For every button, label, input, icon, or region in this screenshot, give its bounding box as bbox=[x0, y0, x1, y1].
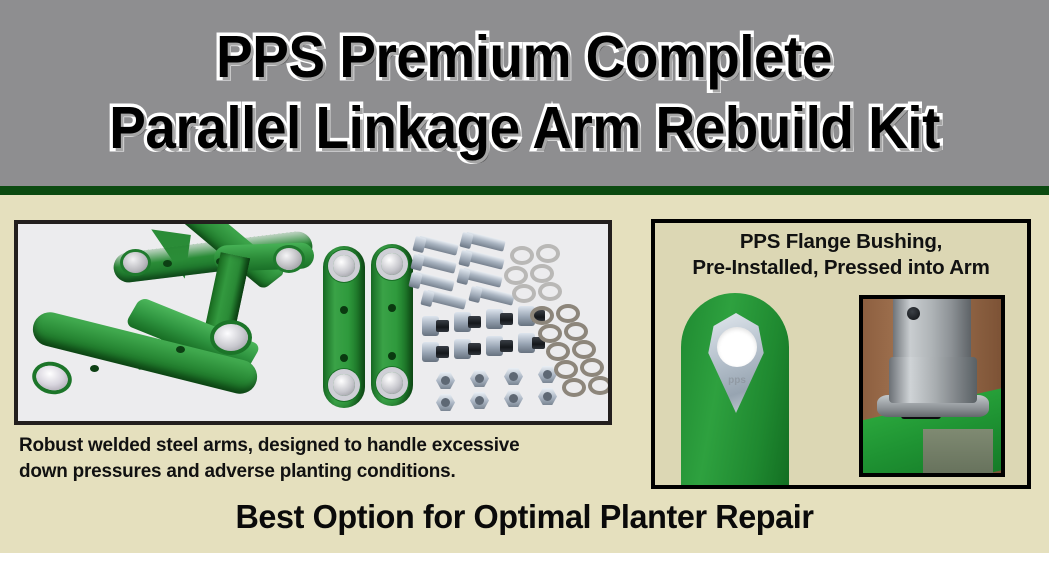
hex-bolt-head bbox=[412, 236, 426, 253]
link-bar-hole bbox=[340, 306, 348, 314]
washer bbox=[572, 340, 596, 359]
washer bbox=[588, 376, 612, 395]
arm-end-with-bushing-image: pps bbox=[673, 291, 797, 489]
washer bbox=[530, 306, 554, 325]
washer bbox=[512, 284, 536, 303]
product-caption: Robust welded steel arms, designed to ha… bbox=[19, 433, 601, 485]
arm-lower-right-eye bbox=[214, 324, 248, 351]
hex-bolt-head bbox=[468, 286, 482, 303]
page-title-line-2: Parallel Linkage Arm Rebuild Kit bbox=[109, 99, 940, 158]
arm-hole bbox=[176, 346, 185, 353]
washer bbox=[538, 324, 562, 343]
arm-upper-right-eye bbox=[276, 248, 302, 270]
arm-hole bbox=[90, 365, 99, 372]
hex-bolt-head bbox=[458, 250, 472, 267]
link-bar-hole bbox=[388, 352, 396, 360]
hex-bolt-head bbox=[459, 232, 473, 249]
arm-upper-left-eye bbox=[123, 252, 148, 273]
hex-bolt-head bbox=[410, 254, 424, 271]
arm-lower-left-eye bbox=[34, 362, 71, 393]
link-bar-eye bbox=[381, 372, 403, 394]
press-photo-shadowed-arm bbox=[923, 429, 993, 477]
washer bbox=[510, 246, 534, 265]
hex-bolt-head bbox=[456, 268, 470, 285]
panel-title-line-1: PPS Flange Bushing, bbox=[655, 229, 1027, 255]
product-caption-line-1: Robust welded steel arms, designed to ha… bbox=[19, 433, 601, 459]
flange-bolt bbox=[422, 342, 448, 362]
link-bar-hole bbox=[388, 304, 396, 312]
ad-banner: PPS Premium Complete Parallel Linkage Ar… bbox=[0, 0, 1049, 585]
page-title-line-1: PPS Premium Complete bbox=[217, 28, 833, 87]
hex-nut bbox=[436, 372, 455, 389]
hex-nut bbox=[504, 390, 523, 407]
flange-bolt bbox=[454, 339, 480, 359]
product-photo-kit bbox=[14, 220, 612, 425]
link-bar-eye bbox=[381, 253, 403, 275]
hex-nut bbox=[470, 392, 489, 409]
flange-bushing-panel: PPS Flange Bushing, Pre-Installed, Press… bbox=[651, 219, 1031, 489]
bushing-stamp-text: pps bbox=[719, 375, 755, 387]
washer bbox=[554, 360, 578, 379]
flange-bolt bbox=[454, 312, 480, 332]
washer bbox=[536, 244, 560, 263]
washer bbox=[530, 264, 554, 283]
tagline: Best Option for Optimal Planter Repair bbox=[10, 498, 1038, 536]
bushing-press-photo bbox=[859, 295, 1005, 477]
flange-bolt bbox=[422, 316, 448, 336]
banner-header: PPS Premium Complete Parallel Linkage Ar… bbox=[0, 0, 1049, 186]
link-bar-hole bbox=[340, 354, 348, 362]
washer bbox=[538, 282, 562, 301]
press-photo-bushing-collar bbox=[889, 357, 977, 403]
washer bbox=[556, 304, 580, 323]
flange-bolt bbox=[486, 309, 512, 329]
hex-nut bbox=[436, 394, 455, 411]
arm-hole bbox=[163, 260, 172, 267]
hex-nut bbox=[504, 368, 523, 385]
hex-bolt-head bbox=[408, 272, 422, 289]
hex-bolt-head bbox=[420, 290, 434, 307]
flange-bolt bbox=[486, 336, 512, 356]
panel-title-line-2: Pre-Installed, Pressed into Arm bbox=[655, 255, 1027, 281]
washer bbox=[562, 378, 586, 397]
press-photo-grease-hole bbox=[907, 307, 920, 320]
link-bar-eye bbox=[333, 255, 355, 277]
flange-bushing-bore bbox=[717, 327, 757, 367]
hex-nut bbox=[538, 388, 557, 405]
link-bar-eye bbox=[333, 374, 355, 396]
link-bar bbox=[323, 246, 365, 408]
flange-bushing-panel-title: PPS Flange Bushing, Pre-Installed, Press… bbox=[655, 229, 1027, 280]
washer bbox=[546, 342, 570, 361]
washer bbox=[564, 322, 588, 341]
washer bbox=[504, 266, 528, 285]
green-divider-rule bbox=[0, 186, 1049, 195]
washer bbox=[580, 358, 604, 377]
photo-backdrop bbox=[18, 224, 608, 421]
hex-nut bbox=[470, 370, 489, 387]
product-caption-line-2: down pressures and adverse planting cond… bbox=[19, 459, 601, 485]
link-bar bbox=[371, 244, 413, 406]
